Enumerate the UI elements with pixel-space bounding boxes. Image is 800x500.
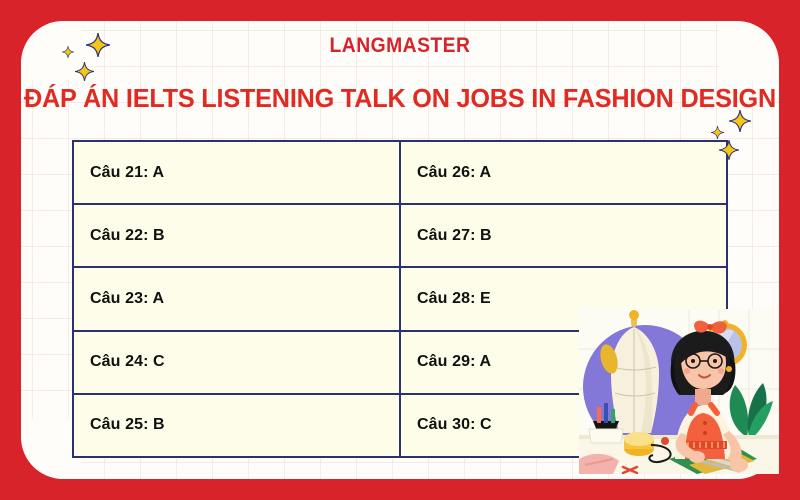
answer-cell: Câu 26: A xyxy=(401,142,726,203)
frame-border-left xyxy=(0,0,21,500)
sparkle-top-left-medium xyxy=(75,62,94,86)
sparkle-top-right-medium xyxy=(719,140,739,165)
answer-cell: Câu 23: A xyxy=(74,268,401,329)
sparkle-top-right-large xyxy=(729,110,751,137)
table-row: Câu 22: B Câu 27: B xyxy=(74,205,726,268)
frame-border-top xyxy=(0,0,800,21)
page-title: ĐÁP ÁN IELTS LISTENING TALK ON JOBS IN F… xyxy=(12,83,788,114)
answer-cell: Câu 27: B xyxy=(401,205,726,266)
answer-cell: Câu 24: C xyxy=(74,332,401,393)
frame-corner-bottom-left xyxy=(0,440,60,500)
answer-cell: Câu 21: A xyxy=(74,142,401,203)
table-row: Câu 21: A Câu 26: A xyxy=(74,142,726,205)
sparkle-top-left-small xyxy=(62,45,74,63)
fashion-designer-illustration xyxy=(579,309,779,479)
frame-border-bottom xyxy=(0,479,800,500)
poster-canvas: LANGMASTER ĐÁP ÁN IELTS LISTENING TALK O… xyxy=(0,0,800,500)
sparkle-top-left-large xyxy=(86,33,110,62)
frame-border-right xyxy=(779,0,800,500)
answer-cell: Câu 25: B xyxy=(74,395,401,456)
langmaster-logo: LANGMASTER xyxy=(32,34,768,58)
answer-cell: Câu 22: B xyxy=(74,205,401,266)
